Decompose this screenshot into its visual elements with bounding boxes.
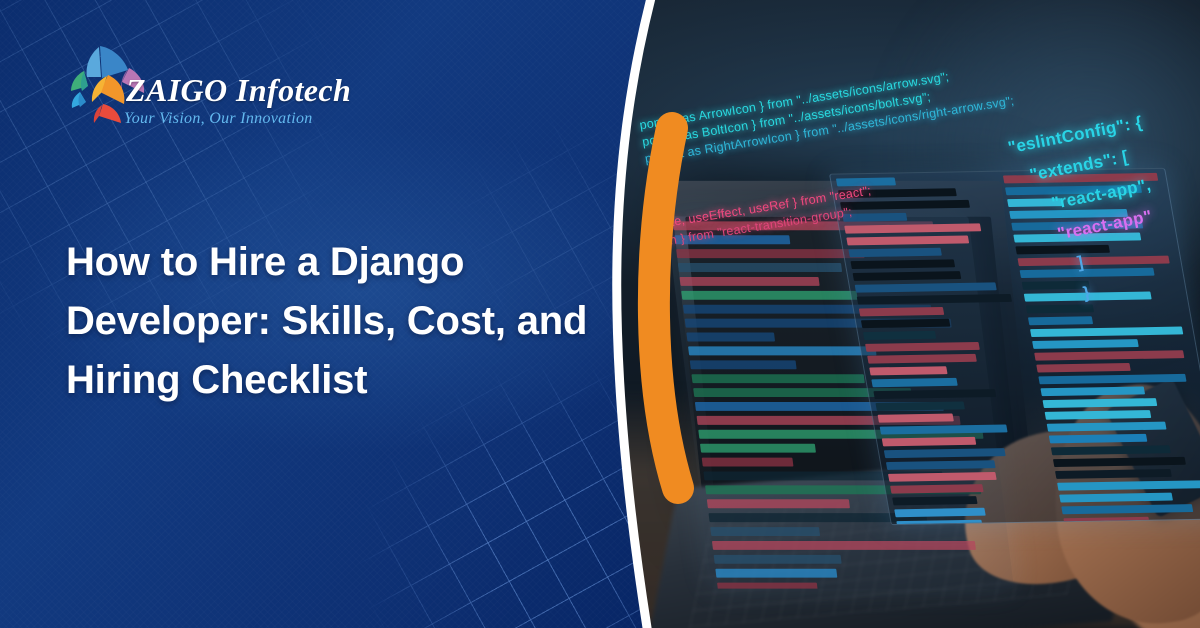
headline-line-1: How to Hire a Django [66, 233, 626, 292]
headline-line-2: Developer: Skills, Cost, and [66, 292, 626, 351]
brand-tagline: Your Vision, Our Innovation [124, 110, 313, 128]
brand-logo[interactable]: ZAIGO Infotech Your Vision, Our Innovati… [66, 44, 366, 139]
page-title: How to Hire a Django Developer: Skills, … [66, 233, 626, 409]
blog-banner: ponent as ArrowIcon } from "../assets/ic… [0, 0, 1200, 628]
brand-name: ZAIGO Infotech [126, 72, 351, 109]
headline-line-3: Hiring Checklist [66, 351, 626, 410]
